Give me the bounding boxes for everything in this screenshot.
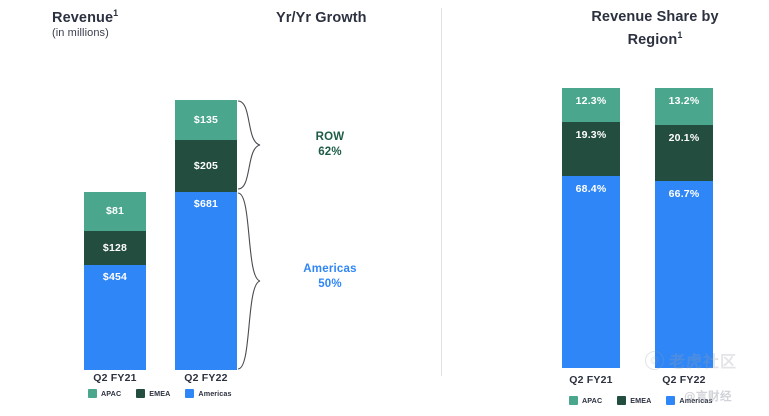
footnote-marker-share: 1 (677, 30, 682, 40)
share-xtick-q2-fy21: Q2 FY21 (556, 374, 626, 386)
legend-label-apac: APAC (101, 389, 121, 398)
share-segment-emea-fy22: 20.1% (655, 125, 713, 181)
revenue-segment-americas-fy21: $454 (84, 265, 146, 370)
legend-swatch-emea (136, 389, 145, 398)
annotation-row: ROW 62% (288, 130, 372, 160)
watermark-handle: @言财经 (684, 388, 732, 404)
annotation-row-value: 62% (288, 145, 372, 160)
share-bar-q2-fy22: 13.2% 20.1% 66.7% (655, 88, 713, 368)
legend-label-emea: EMEA (149, 389, 170, 398)
annotation-row-label: ROW (288, 130, 372, 145)
revenue-segment-apac-fy22: $135 (175, 100, 237, 140)
revenue-bar-q2-fy22: $135 $205 $681 (175, 100, 237, 370)
share-legend-label-emea: EMEA (630, 396, 651, 405)
brace-americas (238, 193, 260, 369)
share-legend-label-apac: APAC (582, 396, 602, 405)
legend-label-americas: Americas (198, 389, 231, 398)
brace-row (238, 101, 260, 189)
growth-panel-title: Yr/Yr Growth (276, 10, 367, 26)
share-legend-swatch-emea (617, 396, 626, 405)
annotation-americas-value: 50% (288, 277, 372, 292)
annotation-americas: Americas 50% (288, 262, 372, 292)
share-legend-swatch-apac (569, 396, 578, 405)
share-segment-apac-fy21: 12.3% (562, 88, 620, 122)
revenue-segment-apac-fy21: $81 (84, 192, 146, 231)
legend-item-emea: EMEA (136, 389, 170, 398)
revenue-panel-title: Revenue1 (52, 8, 118, 26)
revenue-xtick-q2-fy21: Q2 FY21 (79, 372, 151, 384)
revenue-panel-subtitle: (in millions) (52, 27, 109, 39)
share-segment-americas-fy21: 68.4% (562, 176, 620, 368)
share-segment-emea-fy21: 19.3% (562, 122, 620, 176)
footnote-marker-revenue: 1 (113, 8, 118, 18)
share-segment-americas-fy22: 66.7% (655, 181, 713, 368)
legend-swatch-apac (88, 389, 97, 398)
share-bar-q2-fy21: 12.3% 19.3% 68.4% (562, 88, 620, 368)
legend-swatch-americas (185, 389, 194, 398)
revenue-bar-q2-fy21: $81 $128 $454 (84, 192, 146, 370)
legend-item-apac: APAC (88, 389, 121, 398)
panel-divider (441, 8, 442, 376)
annotation-americas-label: Americas (288, 262, 372, 277)
share-panel-title: Revenue Share byRegion1 (560, 8, 750, 49)
share-xtick-q2-fy22: Q2 FY22 (649, 374, 719, 386)
share-segment-apac-fy22: 13.2% (655, 88, 713, 125)
revenue-segment-americas-fy22: $681 (175, 192, 237, 370)
share-legend-item-apac: APAC (569, 396, 602, 405)
share-legend-swatch-americas (666, 396, 675, 405)
revenue-segment-emea-fy21: $128 (84, 231, 146, 265)
share-legend-item-emea: EMEA (617, 396, 651, 405)
revenue-legend: APAC EMEA Americas (88, 389, 242, 398)
growth-braces (230, 90, 290, 380)
revenue-segment-emea-fy22: $205 (175, 140, 237, 192)
legend-item-americas: Americas (185, 389, 231, 398)
chart-slide: Revenue1 (in millions) Yr/Yr Growth Reve… (0, 0, 769, 416)
